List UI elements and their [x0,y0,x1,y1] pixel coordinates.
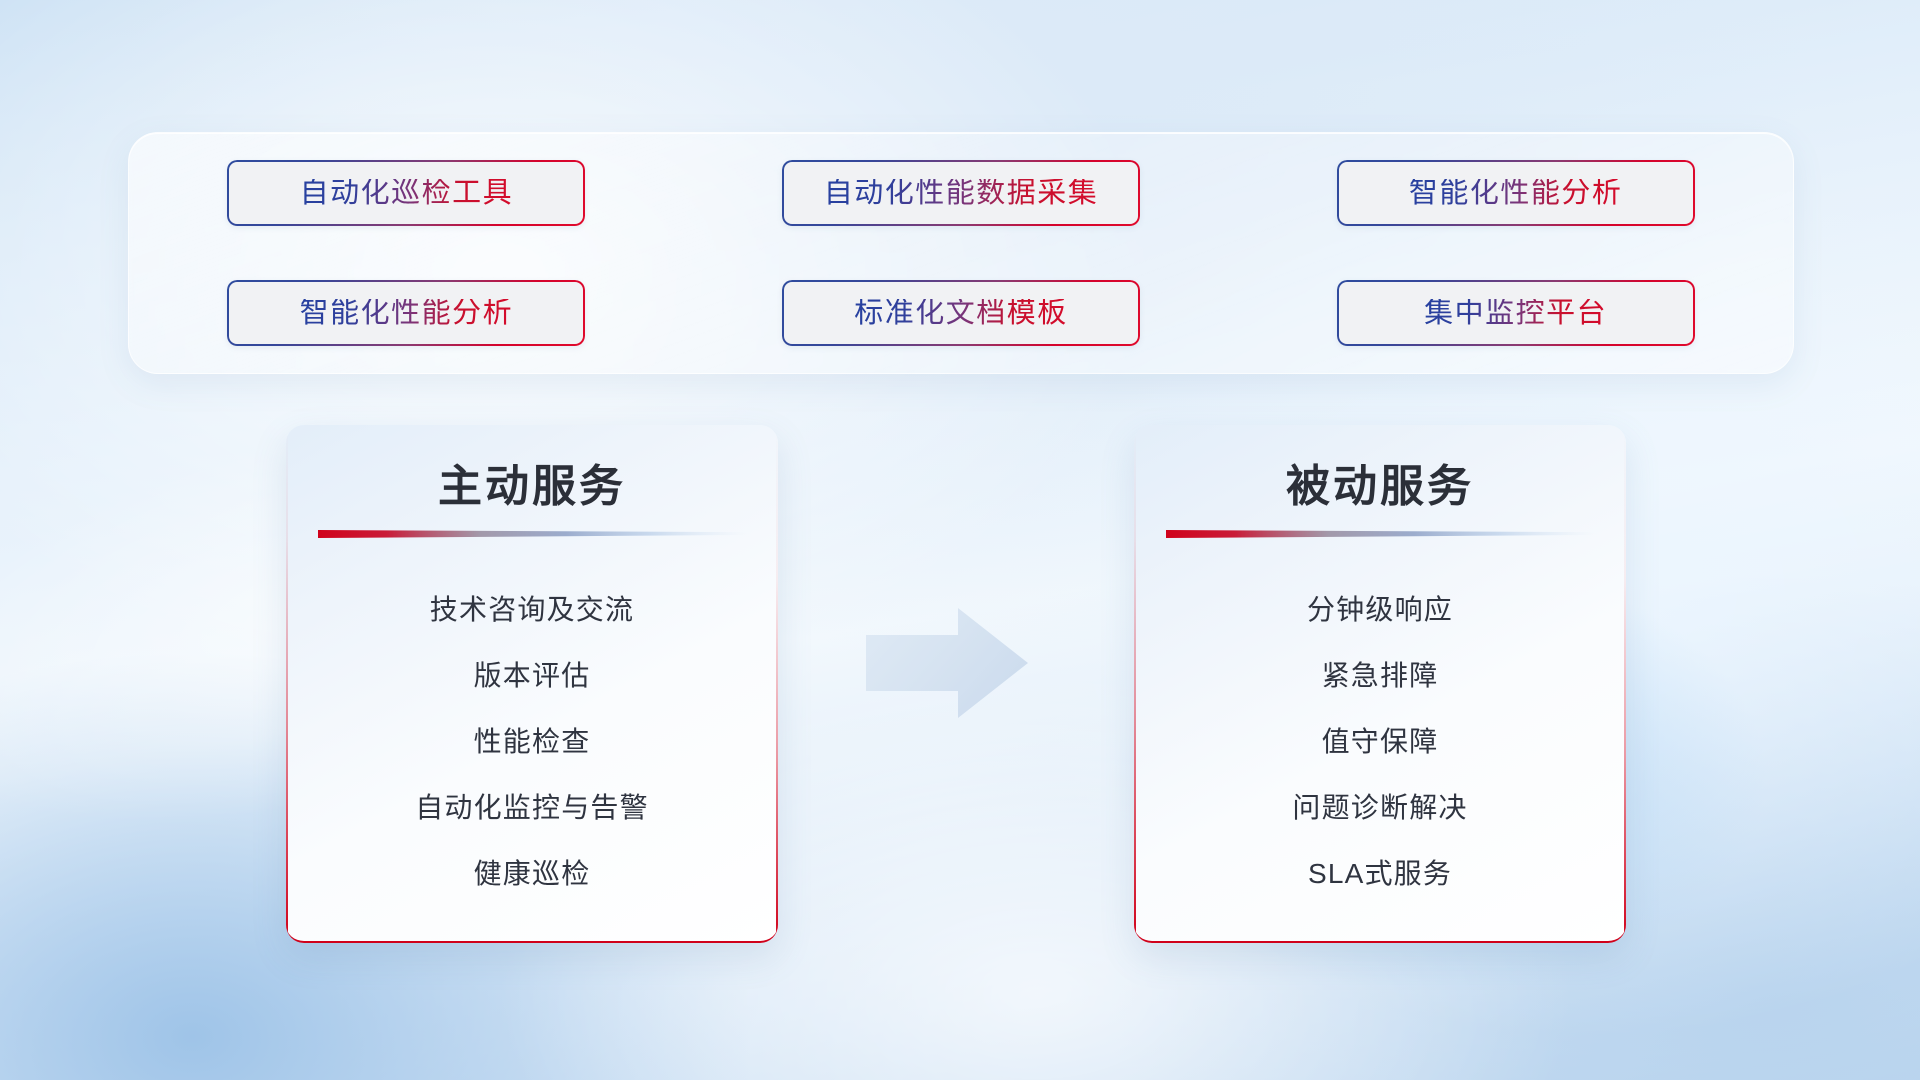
card-divider-gradient [318,529,746,538]
service-card-reactive: 被动服务 分钟级响应 紧急排障 值守保障 问题诊断解决 SLA式服务 [1134,425,1626,943]
service-list-item: 值守保障 [1134,709,1626,775]
capability-pill-5[interactable]: 标准化文档模板 [782,280,1140,346]
card-divider-gradient [1166,529,1594,538]
service-list-item: 性能检查 [286,709,778,775]
service-list-item: 技术咨询及交流 [286,577,778,643]
service-item-list: 技术咨询及交流 版本评估 性能检查 自动化监控与告警 健康巡检 [286,577,778,907]
service-list-item: 健康巡检 [286,841,778,907]
card-title: 被动服务 [1134,463,1626,511]
capability-pill-label: 集中监控平台 [1424,299,1607,328]
service-list-item: 分钟级响应 [1134,577,1626,643]
capability-pill-1[interactable]: 自动化巡检工具 [227,160,585,226]
service-list-item: 紧急排障 [1134,643,1626,709]
service-list-item: 版本评估 [286,643,778,709]
capability-pill-label: 自动化性能数据采集 [824,179,1099,208]
service-list-item: 问题诊断解决 [1134,775,1626,841]
capability-pill-2[interactable]: 自动化性能数据采集 [782,160,1140,226]
service-item-list: 分钟级响应 紧急排障 值守保障 问题诊断解决 SLA式服务 [1134,577,1626,907]
service-list-item: 自动化监控与告警 [286,775,778,841]
flow-arrow-right-icon [866,608,1028,718]
service-list-item: SLA式服务 [1134,841,1626,907]
service-card-proactive: 主动服务 技术咨询及交流 版本评估 性能检查 自动化监控与告警 健康巡检 [286,425,778,943]
capability-pill-label: 标准化文档模板 [854,299,1068,328]
capability-pill-label: 智能化性能分析 [1409,179,1623,208]
card-title: 主动服务 [286,463,778,511]
capability-panel: 自动化巡检工具 自动化性能数据采集 智能化性能分析 智能化性能分析 标准化文档模… [128,132,1794,374]
capability-pill-grid: 自动化巡检工具 自动化性能数据采集 智能化性能分析 智能化性能分析 标准化文档模… [129,133,1793,373]
capability-pill-4[interactable]: 智能化性能分析 [227,280,585,346]
capability-pill-label: 智能化性能分析 [300,299,514,328]
diagram-canvas: 自动化巡检工具 自动化性能数据采集 智能化性能分析 智能化性能分析 标准化文档模… [0,0,1920,1080]
capability-pill-6[interactable]: 集中监控平台 [1337,280,1695,346]
capability-pill-3[interactable]: 智能化性能分析 [1337,160,1695,226]
capability-pill-label: 自动化巡检工具 [300,179,514,208]
